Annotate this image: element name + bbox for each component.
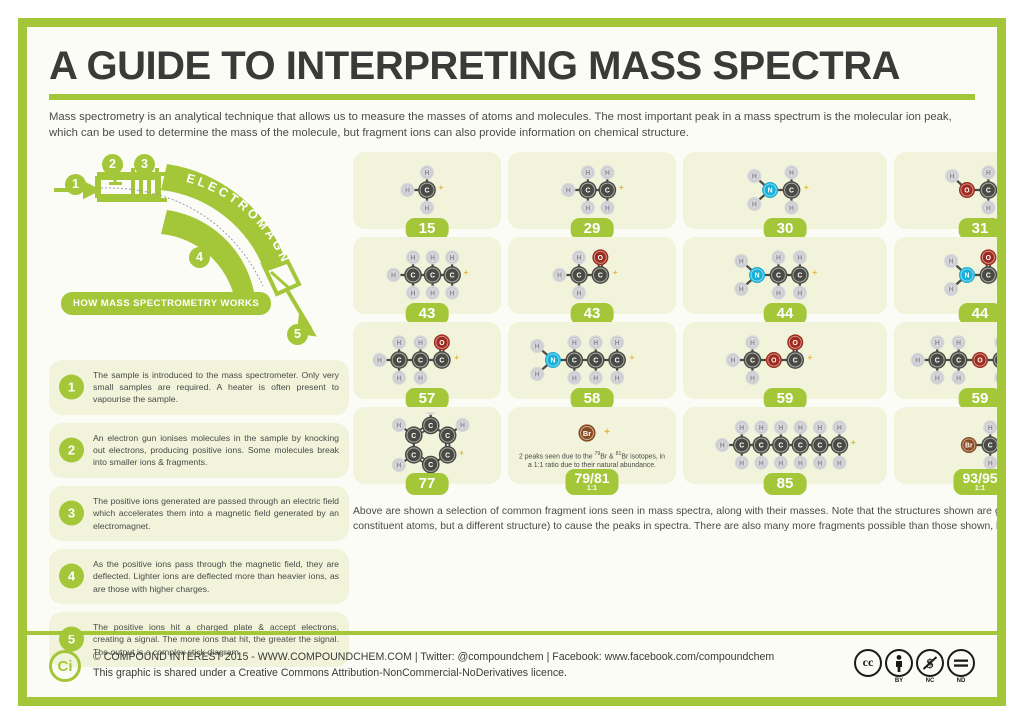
svg-text:H: H — [593, 340, 598, 347]
svg-text:+: + — [630, 352, 635, 362]
svg-text:H: H — [535, 344, 540, 351]
svg-text:C: C — [986, 188, 991, 195]
svg-text:H: H — [411, 255, 416, 262]
molecule-diagram: HHBrC+ — [930, 415, 1006, 476]
svg-text:C: C — [793, 358, 798, 365]
fragment-cell: HHBrC+93/951:1 — [894, 407, 1006, 484]
svg-text:H: H — [396, 463, 401, 470]
svg-text:H: H — [988, 461, 993, 468]
fragment-grid: HHHC+15HHHHHCC+29HHHHNC+30HHHOC+31 Cl + … — [353, 152, 1006, 484]
svg-text:H: H — [730, 358, 735, 365]
svg-text:C: C — [428, 423, 433, 430]
svg-text:H: H — [798, 461, 803, 468]
svg-text:H: H — [789, 170, 794, 177]
svg-text:H: H — [460, 423, 465, 430]
svg-text:+: + — [812, 267, 817, 277]
svg-text:C: C — [576, 273, 581, 280]
svg-text:C: C — [572, 358, 577, 365]
svg-text:H: H — [566, 188, 571, 195]
svg-text:N: N — [755, 273, 760, 280]
svg-text:H: H — [789, 206, 794, 213]
svg-text:C: C — [411, 273, 416, 280]
fragment-cell: HHHC+15 — [353, 152, 501, 229]
fragments-note: Above are shown a selection of common fr… — [353, 504, 1006, 535]
fragment-cell: HHHHHHHHHHHHHCCCCCC+85 — [683, 407, 887, 484]
cc-item: $ NC — [916, 649, 944, 684]
svg-text:H: H — [776, 255, 781, 262]
schematic-marker-2: 2 — [102, 154, 123, 175]
compound-interest-logo: Ci — [49, 650, 81, 682]
fragment-mass: 93/951:1 — [953, 469, 1006, 495]
fragment-cell: HHHOCC+43 — [508, 237, 676, 314]
svg-text:H: H — [557, 273, 562, 280]
svg-text:+: + — [464, 267, 469, 277]
svg-text:H: H — [797, 255, 802, 262]
footer-line-2: This graphic is shared under a Creative … — [93, 666, 854, 682]
svg-text:+: + — [459, 448, 464, 458]
svg-text:H: H — [750, 376, 755, 383]
fragment-cell: HHHHHHHHNCCC+58 — [508, 322, 676, 399]
svg-text:H: H — [720, 443, 725, 450]
svg-text:C: C — [585, 188, 590, 195]
svg-text:H: H — [797, 291, 802, 298]
svg-text:H: H — [615, 340, 620, 347]
step-item: 3 The positive ions generated are passed… — [49, 486, 349, 541]
molecule-diagram: HHHHHCCCCCC+ — [379, 413, 476, 478]
svg-text:H: H — [778, 425, 783, 432]
molecule-diagram: HHONC+ — [926, 245, 1006, 306]
svg-text:H: H — [776, 291, 781, 298]
molecule-diagram: HHHHHCC+ — [538, 160, 646, 221]
svg-text:C: C — [445, 433, 450, 440]
svg-text:+: + — [1003, 437, 1006, 447]
svg-text:C: C — [986, 273, 991, 280]
cc-item: cc — [854, 649, 882, 678]
svg-text:H: H — [405, 188, 410, 195]
svg-text:C: C — [439, 358, 444, 365]
svg-text:H: H — [798, 425, 803, 432]
svg-text:+: + — [1001, 182, 1006, 192]
svg-text:C: C — [418, 358, 423, 365]
svg-text:H: H — [397, 376, 402, 383]
svg-text:C: C — [593, 358, 598, 365]
svg-text:C: C — [999, 358, 1004, 365]
cc-caption: NC — [926, 678, 935, 684]
cc-icon: cc — [854, 649, 882, 677]
step-text: As the positive ions pass through the ma… — [93, 558, 339, 595]
svg-text:C: C — [789, 188, 794, 195]
svg-text:H: H — [817, 461, 822, 468]
svg-text:C: C — [935, 358, 940, 365]
footer-line-1: © COMPOUND INTEREST 2015 - WWW.COMPOUNDC… — [93, 650, 854, 666]
svg-text:H: H — [585, 170, 590, 177]
schematic-marker-5: 5 — [287, 324, 308, 345]
isotope-ratio: 1:1 — [962, 485, 997, 493]
svg-text:H: H — [411, 291, 416, 298]
svg-text:H: H — [935, 376, 940, 383]
svg-text:H: H — [778, 461, 783, 468]
svg-text:H: H — [377, 358, 382, 365]
svg-text:N: N — [768, 188, 773, 195]
cc-item: ND — [947, 649, 975, 684]
svg-text:C: C — [450, 273, 455, 280]
svg-text:C: C — [430, 273, 435, 280]
svg-text:C: C — [425, 188, 430, 195]
molecule-diagram: HHHHNC+ — [729, 160, 841, 221]
svg-text:C: C — [411, 453, 416, 460]
step-text: The positive ions generated are passed t… — [93, 495, 339, 532]
svg-text:C: C — [817, 443, 822, 450]
svg-text:H: H — [430, 291, 435, 298]
step-number: 3 — [59, 501, 84, 526]
molecule-diagram: HHHOCOC+ — [715, 330, 855, 391]
cc-caption: BY — [895, 678, 903, 684]
svg-text:H: H — [397, 340, 402, 347]
svg-text:H: H — [572, 376, 577, 383]
svg-text:O: O — [771, 358, 777, 365]
title-divider — [49, 94, 975, 100]
svg-text:H: H — [576, 255, 581, 262]
svg-text:H: H — [935, 340, 940, 347]
svg-text:H: H — [949, 287, 954, 294]
svg-text:+: + — [439, 182, 444, 192]
svg-text:C: C — [798, 443, 803, 450]
svg-text:O: O — [793, 340, 799, 347]
svg-text:C: C — [411, 433, 416, 440]
svg-text:H: H — [585, 206, 590, 213]
step-item: 1 The sample is introduced to the mass s… — [49, 360, 349, 415]
svg-text:C: C — [397, 358, 402, 365]
svg-text:C: C — [605, 188, 610, 195]
svg-text:H: H — [956, 376, 961, 383]
svg-text:C: C — [776, 273, 781, 280]
isotope-atom: Br + — [574, 420, 610, 446]
creative-commons-icons: cc BY $ NC ND — [854, 649, 975, 684]
step-item: 2 An electron gun ionises molecules in t… — [49, 423, 349, 478]
cc-by-icon — [885, 649, 913, 677]
svg-text:+: + — [619, 182, 624, 192]
molecule-diagram: HHHHHHHHHHHHHCCCCCC+ — [694, 415, 876, 476]
isotope-ratio: 1:1 — [574, 485, 609, 493]
molecule-diagram: HHHHHHHCCOC+ — [904, 330, 1006, 391]
svg-text:H: H — [988, 425, 993, 432]
fragment-cell: HHHHHHHCCC+43 — [353, 237, 501, 314]
svg-text:H: H — [425, 170, 430, 177]
cc-nd-icon — [947, 649, 975, 677]
fragment-cell: HHHHHCC+29 — [508, 152, 676, 229]
svg-text:C: C — [739, 443, 744, 450]
svg-text:H: H — [605, 170, 610, 177]
schematic-marker-4: 4 — [189, 247, 210, 268]
svg-text:C: C — [445, 453, 450, 460]
molecule-diagram: HHHHHOCCC+ — [362, 330, 492, 391]
svg-text:+: + — [808, 352, 813, 362]
svg-text:+: + — [613, 267, 618, 277]
svg-text:H: H — [391, 273, 396, 280]
fragment-cell: HHHHNC+30 — [683, 152, 887, 229]
cc-item: BY — [885, 649, 913, 684]
fragment-cell: Br + 2 peaks seen due to the 79Br & 81Br… — [508, 407, 676, 484]
svg-text:H: H — [593, 376, 598, 383]
footer-text: © COMPOUND INTEREST 2015 - WWW.COMPOUNDC… — [93, 650, 854, 682]
svg-text:C: C — [615, 358, 620, 365]
svg-text:H: H — [739, 259, 744, 266]
svg-text:O: O — [977, 358, 983, 365]
svg-text:H: H — [396, 423, 401, 430]
svg-text:O: O — [964, 188, 970, 195]
svg-text:+: + — [454, 352, 459, 362]
svg-text:H: H — [950, 174, 955, 181]
fragment-mass: 85 — [764, 473, 807, 495]
svg-text:H: H — [450, 291, 455, 298]
svg-text:+: + — [851, 437, 856, 447]
svg-text:C: C — [956, 358, 961, 365]
svg-text:+: + — [804, 182, 809, 192]
fragment-cell: HHHHHHHCCOC+59 — [894, 322, 1006, 399]
svg-text:O: O — [439, 340, 445, 347]
svg-text:C: C — [759, 443, 764, 450]
svg-text:+: + — [1001, 267, 1006, 277]
left-column: ELECTROMAGNET 1 2 3 4 5 HOW MASS SPECTRO… — [49, 152, 349, 622]
svg-text:H: H — [837, 425, 842, 432]
molecule-diagram: HHHC+ — [384, 160, 470, 221]
svg-text:H: H — [572, 340, 577, 347]
step-number: 2 — [59, 438, 84, 463]
svg-text:N: N — [964, 273, 969, 280]
svg-text:H: H — [418, 340, 423, 347]
svg-text:H: H — [576, 291, 581, 298]
svg-text:H: H — [750, 340, 755, 347]
right-column: HHHC+15HHHHHCC+29HHHHNC+30HHHOC+31 Cl + … — [349, 152, 1006, 622]
fragment-cell: HHHHHCCCCCC+77 — [353, 407, 501, 484]
step-text: An electron gun ionises molecules in the… — [93, 432, 339, 469]
svg-text:H: H — [739, 461, 744, 468]
svg-text:H: H — [752, 174, 757, 181]
schematic-marker-1: 1 — [65, 174, 86, 195]
step-number: 4 — [59, 564, 84, 589]
step-text: The sample is introduced to the mass spe… — [93, 369, 339, 406]
svg-text:H: H — [986, 206, 991, 213]
how-it-works-label: HOW MASS SPECTROMETRY WORKS — [61, 292, 271, 315]
svg-text:N: N — [550, 358, 555, 365]
svg-text:C: C — [750, 358, 755, 365]
svg-text:C: C — [778, 443, 783, 450]
svg-text:H: H — [615, 376, 620, 383]
schematic-marker-3: 3 — [134, 154, 155, 175]
intro-paragraph: Mass spectrometry is an analytical techn… — [49, 109, 975, 142]
molecule-diagram: HHHOC+ — [926, 160, 1006, 221]
svg-text:H: H — [418, 376, 423, 383]
cc-nc-icon: $ — [916, 649, 944, 677]
steps-list: 1 The sample is introduced to the mass s… — [49, 360, 349, 667]
svg-text:H: H — [759, 425, 764, 432]
svg-text:H: H — [999, 340, 1004, 347]
svg-text:Br: Br — [965, 443, 973, 450]
svg-text:C: C — [988, 443, 993, 450]
svg-text:H: H — [837, 461, 842, 468]
svg-text:C: C — [797, 273, 802, 280]
footer: Ci © COMPOUND INTEREST 2015 - WWW.COMPOU… — [27, 631, 997, 697]
svg-text:H: H — [956, 340, 961, 347]
svg-text:H: H — [535, 372, 540, 379]
svg-text:O: O — [986, 255, 992, 262]
fragment-mass: 79/811:1 — [565, 469, 618, 495]
svg-text:H: H — [915, 358, 920, 365]
poster-frame: A GUIDE TO INTERPRETING MASS SPECTRA Mas… — [18, 18, 1006, 706]
svg-text:Br: Br — [583, 429, 591, 438]
svg-text:O: O — [598, 255, 604, 262]
fragment-cell: HHHOCOC+59 — [683, 322, 887, 399]
fragment-cell: HHHHHOCCC+57 — [353, 322, 501, 399]
step-item: 4 As the positive ions pass through the … — [49, 549, 349, 604]
svg-text:H: H — [450, 255, 455, 262]
svg-text:H: H — [999, 376, 1004, 383]
svg-text:H: H — [752, 202, 757, 209]
svg-text:H: H — [605, 206, 610, 213]
svg-text:H: H — [986, 170, 991, 177]
svg-text:H: H — [949, 259, 954, 266]
svg-text:H: H — [759, 461, 764, 468]
page-title: A GUIDE TO INTERPRETING MASS SPECTRA — [49, 39, 975, 87]
molecule-diagram: HHHHHHHCCC+ — [366, 245, 489, 306]
fragment-cell: HHHOC+31 — [894, 152, 1006, 229]
molecule-diagram: HHHHHHNCC+ — [720, 245, 850, 306]
molecule-diagram: HHHOCC+ — [538, 245, 646, 306]
fragment-mass: 77 — [406, 473, 449, 495]
spectrometer-schematic: ELECTROMAGNET 1 2 3 4 5 HOW MASS SPECTRO… — [49, 152, 349, 342]
infographic-page: A GUIDE TO INTERPRETING MASS SPECTRA Mas… — [0, 0, 1024, 724]
fragment-cell: HHONC+44 — [894, 237, 1006, 314]
svg-text:H: H — [739, 425, 744, 432]
cc-caption: ND — [957, 678, 966, 684]
step-number: 1 — [59, 375, 84, 400]
svg-text:H: H — [817, 425, 822, 432]
svg-text:H: H — [430, 255, 435, 262]
svg-text:C: C — [837, 443, 842, 450]
svg-text:H: H — [425, 206, 430, 213]
svg-text:C: C — [428, 462, 433, 469]
svg-text:C: C — [598, 273, 603, 280]
svg-text:H: H — [739, 287, 744, 294]
fragment-cell: HHHHHHNCC+44 — [683, 237, 887, 314]
molecule-diagram: HHHHHHHHNCCC+ — [518, 330, 667, 391]
